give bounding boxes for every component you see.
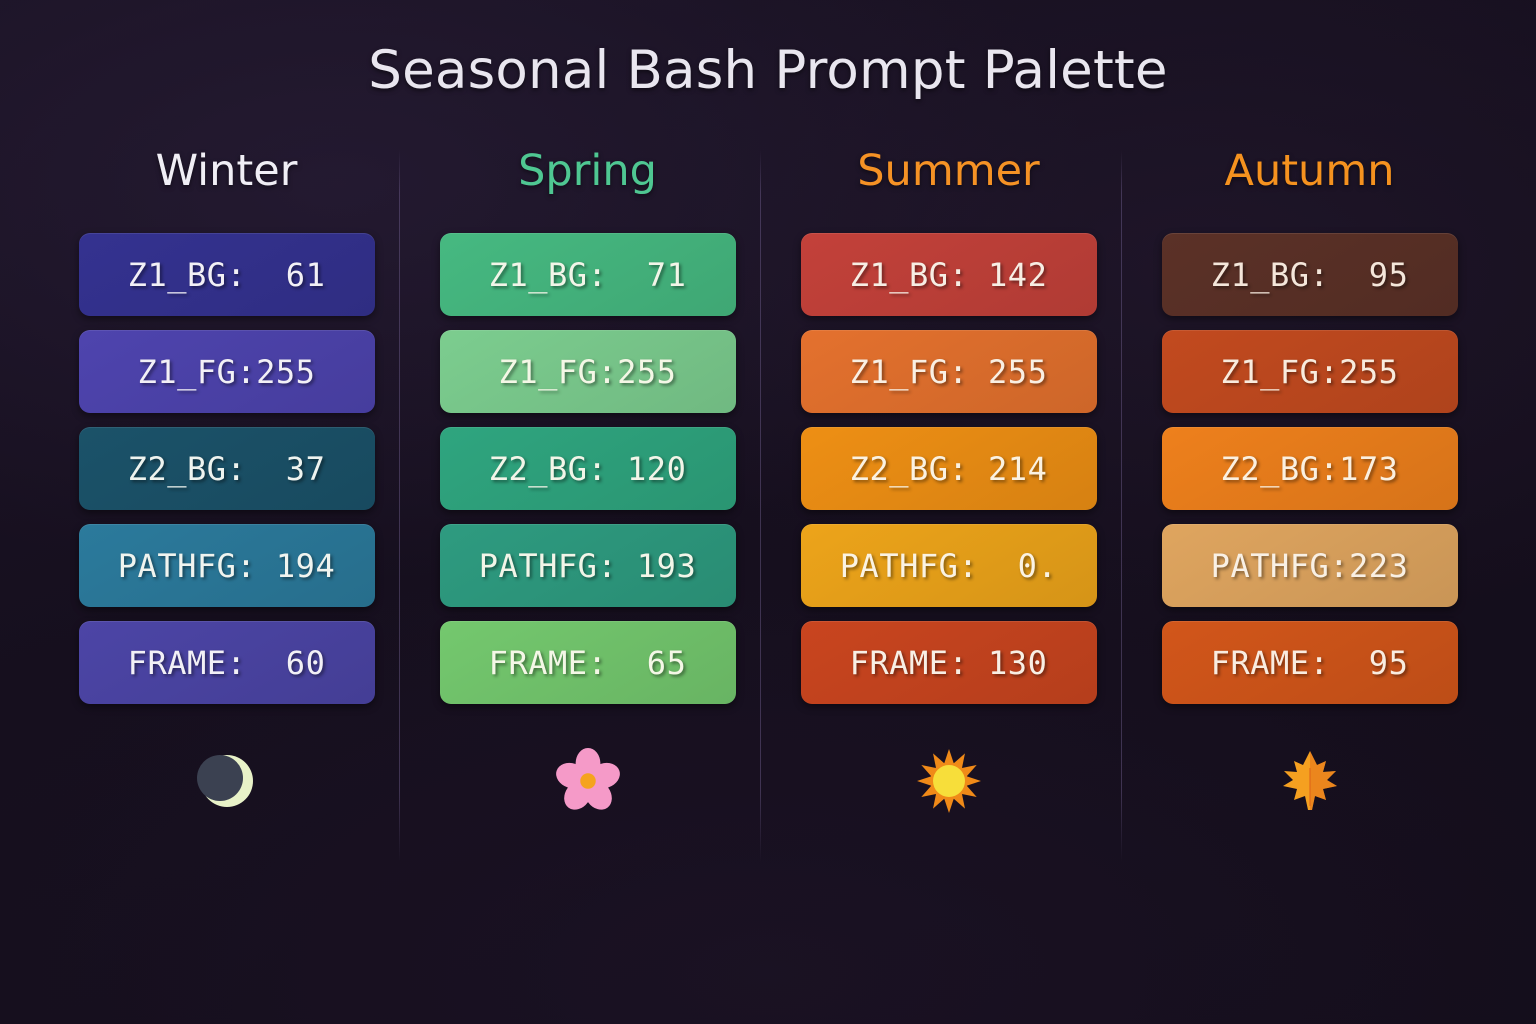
palette-chip-z1_fg[interactable]: Z1_FG: 255: [801, 330, 1097, 413]
palette-chip-z1_fg[interactable]: Z1_FG:255: [79, 330, 375, 413]
chip-list: Z1_BG: 142Z1_FG: 255Z2_BG: 214PATHFG: 0.…: [801, 233, 1097, 704]
palette-chip-pathfg[interactable]: PATHFG:223: [1162, 524, 1458, 607]
cherry-blossom-icon: [555, 748, 621, 814]
palette-chip-z1_fg[interactable]: Z1_FG:255: [1162, 330, 1458, 413]
maple-leaf-icon: [1271, 742, 1349, 820]
palette-chip-z1_bg[interactable]: Z1_BG: 61: [79, 233, 375, 316]
palette-chip-pathfg[interactable]: PATHFG: 193: [440, 524, 736, 607]
cherry-blossom-icon: [549, 742, 627, 820]
season-title: Spring: [518, 150, 657, 193]
season-column-autumn: AutumnZ1_BG: 95Z1_FG:255Z2_BG:173PATHFG:…: [1129, 150, 1490, 820]
palette-chip-z2_bg[interactable]: Z2_BG: 37: [79, 427, 375, 510]
season-title: Winter: [156, 150, 298, 193]
season-column-spring: SpringZ1_BG: 71Z1_FG:255Z2_BG: 120PATHFG…: [407, 150, 768, 820]
season-column-summer: SummerZ1_BG: 142Z1_FG: 255Z2_BG: 214PATH…: [768, 150, 1129, 820]
palette-chip-z1_bg[interactable]: Z1_BG: 142: [801, 233, 1097, 316]
sun-icon: [910, 742, 988, 820]
palette-chip-z1_fg[interactable]: Z1_FG:255: [440, 330, 736, 413]
season-title: Autumn: [1225, 150, 1395, 193]
season-column-winter: WinterZ1_BG: 61Z1_FG:255Z2_BG: 37PATHFG:…: [46, 150, 407, 820]
palette-chip-frame[interactable]: FRAME: 60: [79, 621, 375, 704]
palette-chip-z1_bg[interactable]: Z1_BG: 95: [1162, 233, 1458, 316]
chip-list: Z1_BG: 61Z1_FG:255Z2_BG: 37PATHFG: 194FR…: [79, 233, 375, 704]
palette-chip-z2_bg[interactable]: Z2_BG: 120: [440, 427, 736, 510]
chip-list: Z1_BG: 95Z1_FG:255Z2_BG:173PATHFG:223FRA…: [1162, 233, 1458, 704]
palette-chip-z2_bg[interactable]: Z2_BG: 214: [801, 427, 1097, 510]
palette-chip-z1_bg[interactable]: Z1_BG: 71: [440, 233, 736, 316]
palette-chip-z2_bg[interactable]: Z2_BG:173: [1162, 427, 1458, 510]
palette-page: Seasonal Bash Prompt Palette WinterZ1_BG…: [0, 0, 1536, 1024]
palette-chip-pathfg[interactable]: PATHFG: 0.: [801, 524, 1097, 607]
page-title: Seasonal Bash Prompt Palette: [0, 40, 1536, 101]
palette-chip-frame[interactable]: FRAME: 95: [1162, 621, 1458, 704]
waning-crescent-moon-icon: [195, 749, 259, 813]
waning-crescent-moon-icon: [188, 742, 266, 820]
season-columns: WinterZ1_BG: 61Z1_FG:255Z2_BG: 37PATHFG:…: [46, 150, 1490, 820]
palette-chip-frame[interactable]: FRAME: 65: [440, 621, 736, 704]
sun-icon: [916, 748, 982, 814]
palette-chip-frame[interactable]: FRAME: 130: [801, 621, 1097, 704]
maple-leaf-icon: [1278, 748, 1342, 814]
chip-list: Z1_BG: 71Z1_FG:255Z2_BG: 120PATHFG: 193F…: [440, 233, 736, 704]
season-title: Summer: [857, 150, 1039, 193]
palette-chip-pathfg[interactable]: PATHFG: 194: [79, 524, 375, 607]
